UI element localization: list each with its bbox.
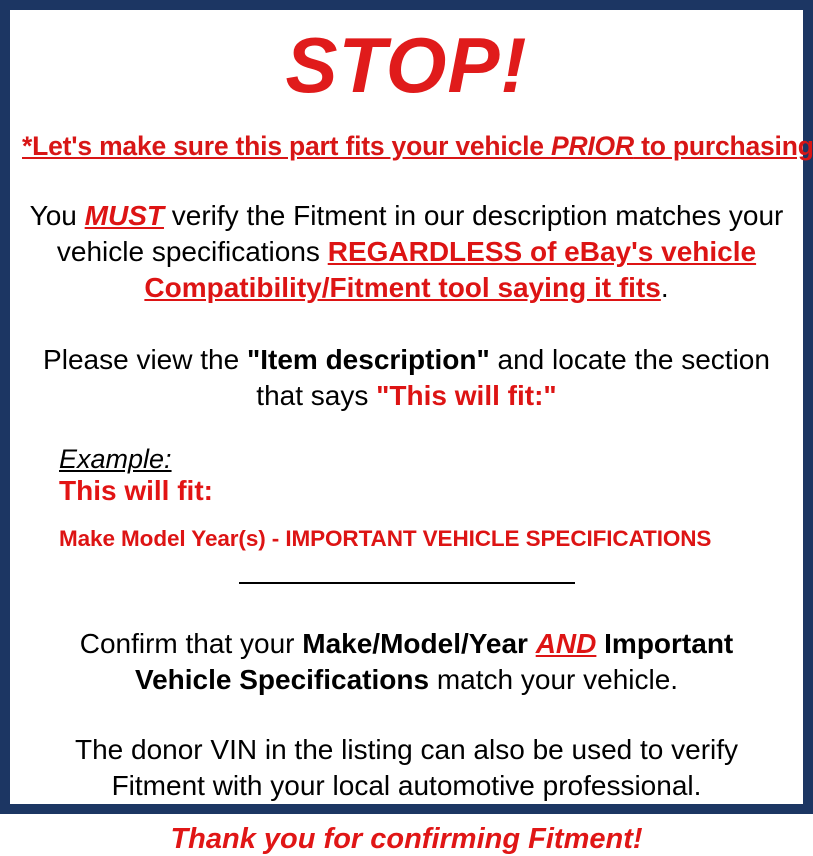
horizontal-divider xyxy=(239,582,575,584)
subtitle-tail-text: to purchasing* xyxy=(634,131,813,161)
view-paragraph-seg-1: Please view the xyxy=(43,344,247,375)
must-paragraph-period: . xyxy=(661,272,669,303)
subtitle-banner: *Let's make sure this part fits your veh… xyxy=(22,130,791,162)
make-model-year-label: Make/Model/Year xyxy=(302,628,528,659)
divider-row xyxy=(22,574,791,592)
item-description-label: "Item description" xyxy=(247,344,490,375)
and-keyword: AND xyxy=(536,628,597,659)
thank-you-line: Thank you for confirming Fitment! xyxy=(22,822,791,856)
page-title: STOP! xyxy=(22,22,791,108)
example-label-row: Example: xyxy=(59,444,791,474)
must-keyword: MUST xyxy=(85,200,164,231)
subtitle-lead-text: *Let's make sure this part fits your veh… xyxy=(22,131,551,161)
confirm-paragraph: Confirm that your Make/Model/Year AND Im… xyxy=(22,626,791,698)
this-will-fit-quote: "This will fit:" xyxy=(376,380,557,411)
confirm-paragraph-seg-1: Confirm that your xyxy=(80,628,303,659)
fitment-notice-card: STOP! *Let's make sure this part fits yo… xyxy=(0,0,813,814)
notice-content: STOP! *Let's make sure this part fits yo… xyxy=(10,22,803,816)
subtitle-prior-emphasis: PRIOR xyxy=(551,131,634,161)
must-verify-paragraph: You MUST verify the Fitment in our descr… xyxy=(22,198,791,306)
example-block: Example: This will fit: Make Model Year(… xyxy=(22,444,791,552)
example-spec-line: Make Model Year(s) - IMPORTANT VEHICLE S… xyxy=(59,526,791,552)
confirm-paragraph-seg-5: match your vehicle. xyxy=(429,664,678,695)
view-description-paragraph: Please view the "Item description" and l… xyxy=(22,342,791,414)
donor-vin-paragraph: The donor VIN in the listing can also be… xyxy=(22,732,791,804)
example-label: Example: xyxy=(59,444,172,474)
example-this-will-fit: This will fit: xyxy=(59,475,791,507)
must-paragraph-seg-1: You xyxy=(30,200,85,231)
